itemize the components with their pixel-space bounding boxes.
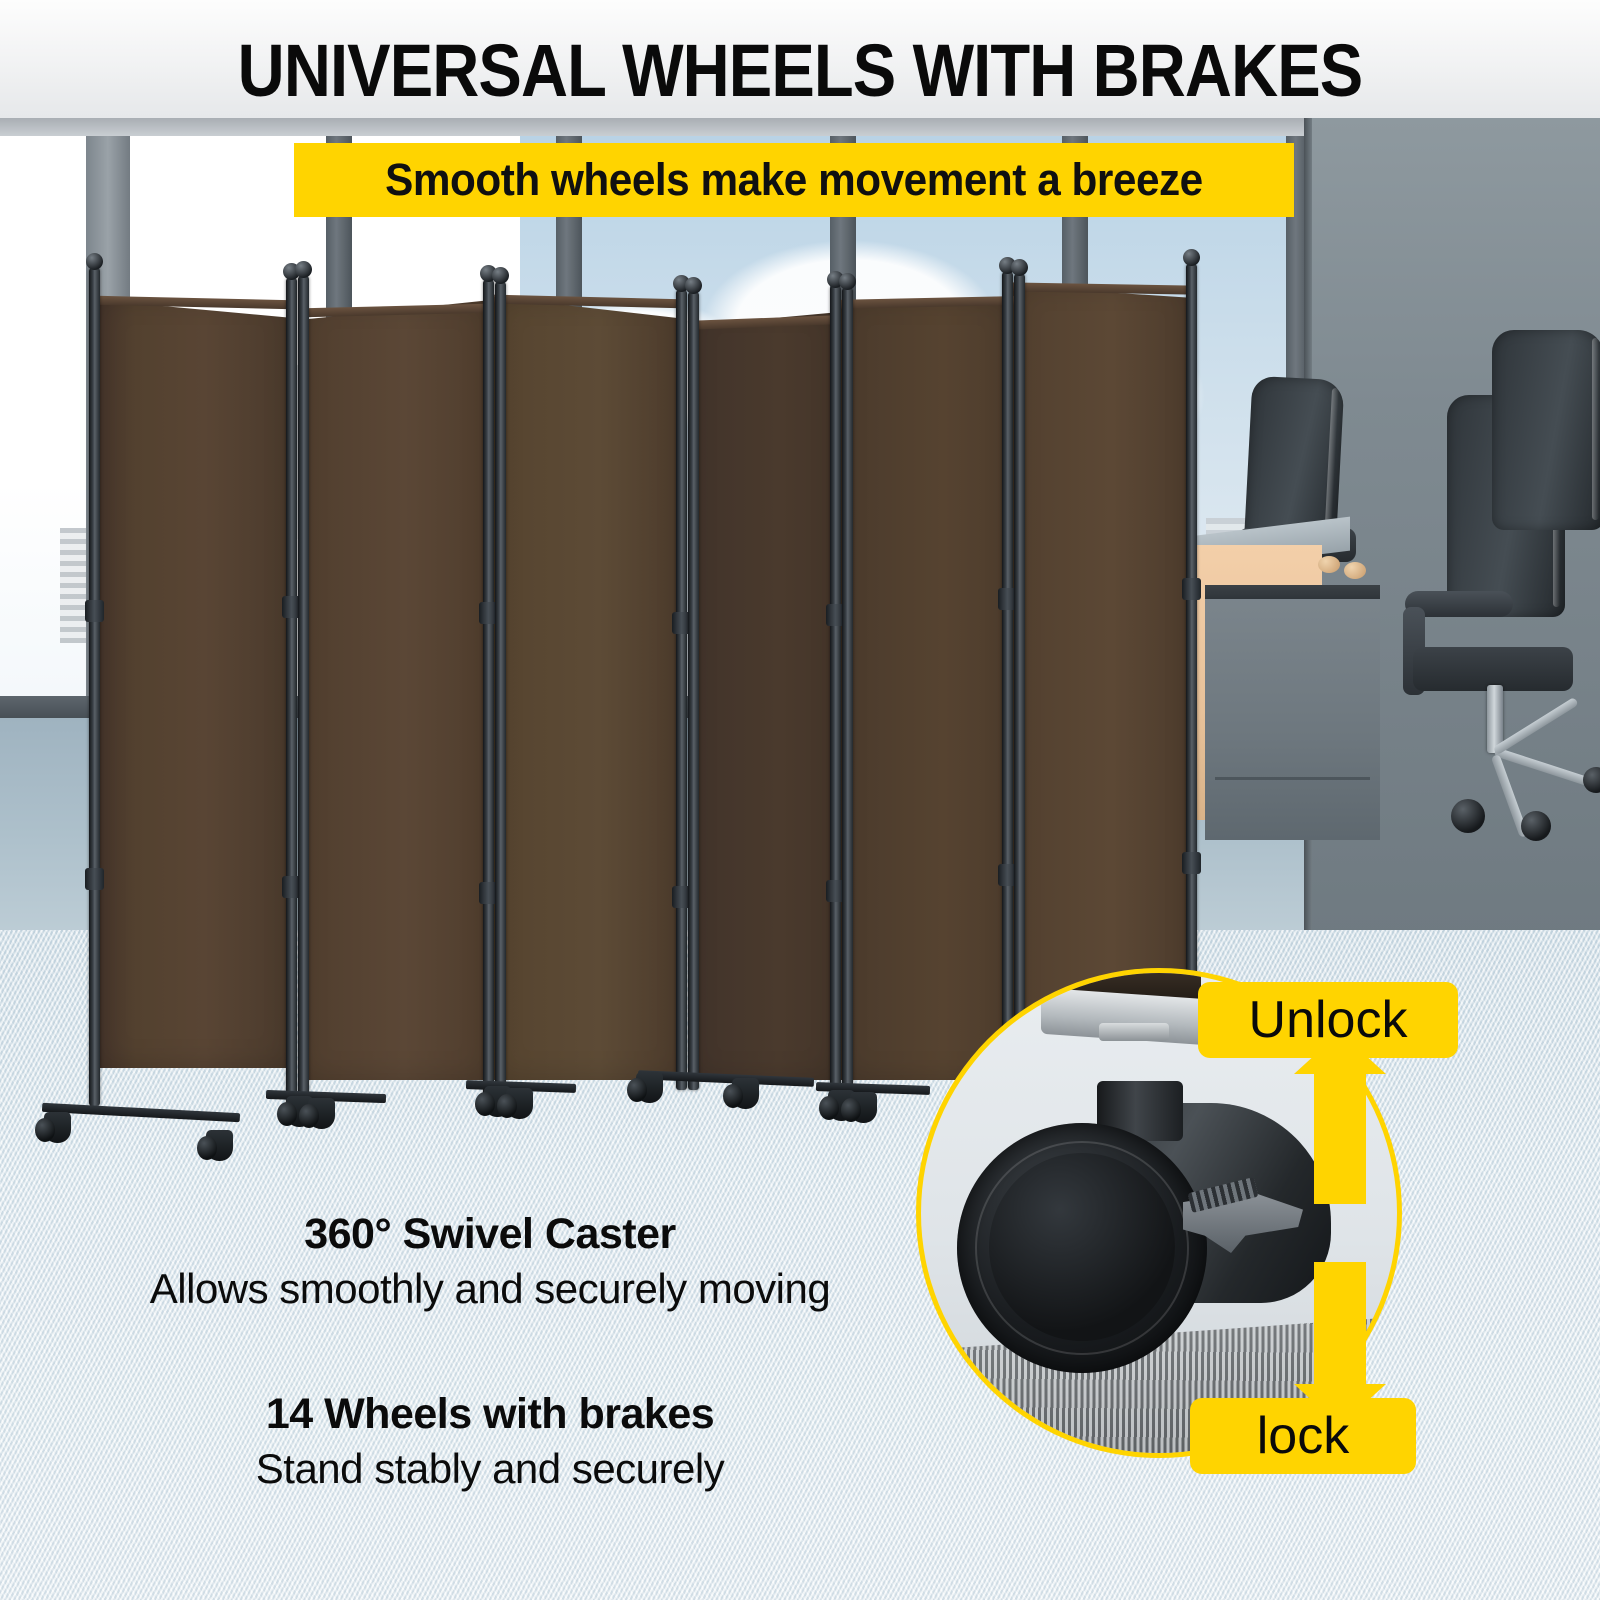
post-finial-icon [685,277,702,294]
feature-block-wheels: 14 Wheels with brakes Stand stably and s… [50,1390,930,1493]
divider-caster[interactable] [308,1098,335,1129]
divider-panel [1012,282,1194,1084]
feature-block-swivel: 360° Swivel Caster Allows smoothly and s… [50,1210,930,1313]
lock-arrow-down-icon [1314,1262,1366,1386]
divider-base-bar [42,1103,240,1122]
divider-post [1014,274,1025,1098]
subtitle-banner-text: Smooth wheels make movement a breeze [385,154,1203,206]
divider-caster[interactable] [506,1088,533,1119]
divider-panel [494,297,686,1080]
feature-heading: 14 Wheels with brakes [50,1390,930,1439]
feature-description: Allows smoothly and securely moving [50,1265,930,1313]
page-title: UNIVERSAL WHEELS WITH BRAKES [96,32,1504,110]
post-finial-icon [1183,249,1200,266]
post-finial-icon [492,267,509,284]
post-finial-icon [295,261,312,278]
subtitle-banner: Smooth wheels make movement a breeze [294,143,1294,217]
divider-caster[interactable] [732,1078,759,1109]
divider-post [842,288,853,1094]
divider-caster[interactable] [44,1112,71,1143]
post-finial-icon [1011,259,1028,276]
divider-post [298,276,309,1106]
divider-post [1186,264,1197,1054]
caster-screw [1099,1023,1169,1041]
divider-post [483,280,494,1108]
divider-caster[interactable] [636,1072,663,1103]
divider-panel [299,300,491,1080]
divider-post [676,290,687,1090]
divider-post [495,282,506,1108]
caster-wheel [957,1123,1207,1373]
lock-tag: lock [1190,1398,1416,1474]
divider-post [830,286,841,1094]
product-infographic: UNIVERSAL WHEELS WITH BRAKES Smooth whee… [0,0,1600,1600]
post-finial-icon [86,253,103,270]
divider-post [286,278,297,1106]
unlock-tag: Unlock [1198,982,1458,1058]
divider-panel [688,304,840,1080]
divider-caster[interactable] [850,1092,877,1123]
divider-caster[interactable] [206,1130,233,1161]
post-finial-icon [839,273,856,290]
divider-panel [838,296,1014,1080]
divider-panel [97,296,293,1068]
lock-label: lock [1257,1406,1349,1466]
divider-post [1002,272,1013,1098]
unlock-arrow-up-icon [1314,1072,1366,1204]
divider-post [688,292,699,1090]
divider-post [89,268,100,1106]
feature-heading: 360° Swivel Caster [50,1210,930,1259]
unlock-label: Unlock [1249,990,1408,1050]
feature-description: Stand stably and securely [50,1445,930,1493]
